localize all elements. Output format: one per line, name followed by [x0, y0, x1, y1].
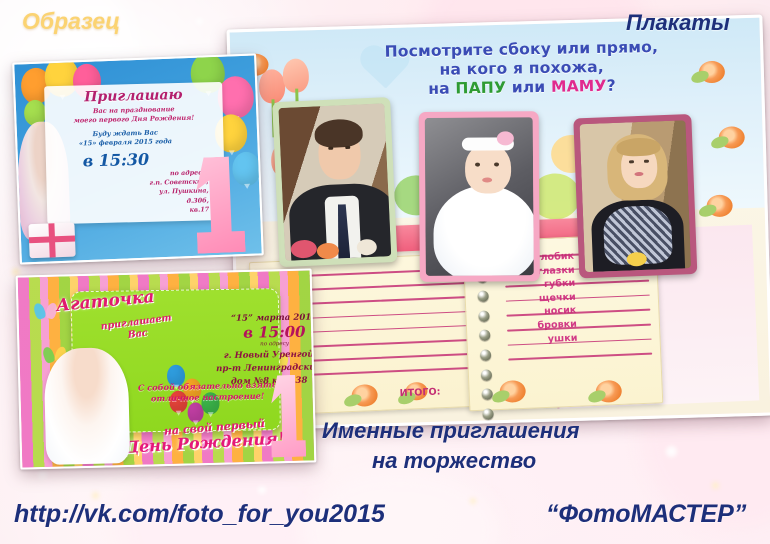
screenshot-canvas: Посмотрите сбоку или прямо, на кого я по…: [0, 0, 770, 544]
rose-icon: [595, 380, 622, 403]
photo-mom-image: [580, 120, 692, 272]
photo-dad[interactable]: [272, 97, 397, 267]
vk-url-text[interactable]: http://vk.com/foto_for_you2015: [14, 500, 385, 529]
headline-suffix: ?: [606, 77, 616, 95]
headline-mid: или: [506, 78, 551, 97]
total-label: ИТОГО:: [399, 386, 440, 399]
invite-date: Буду ждать Вас «15» февраля 2015 года: [49, 127, 201, 149]
named-invites-line-1: Именные приглашения: [322, 418, 580, 444]
photo-dad-image: [278, 103, 391, 261]
photo-baby-image: [425, 117, 534, 276]
headline-papa: ПАПУ: [455, 79, 506, 98]
posters-label: Плакаты: [626, 10, 730, 36]
invitation-text-panel: Приглашаю Вас на празднование моего перв…: [44, 82, 225, 224]
gift-box-icon: [28, 222, 75, 258]
baby-photo-green-card: [43, 347, 130, 465]
rose-icon: [499, 380, 526, 403]
invite-time: в 15:30: [52, 149, 180, 171]
brand-name: “ФотоМАСТЕР”: [546, 500, 746, 529]
tulip-icon: [282, 58, 309, 93]
headline-mama: МАМУ: [551, 77, 607, 96]
invitation-card-green[interactable]: “15” марта 2015 в 15:00 по адресу г. Нов…: [16, 268, 317, 469]
balloon-icon: [232, 151, 261, 186]
photo-mom[interactable]: [573, 114, 697, 278]
poster-headline: Посмотрите сбоку или прямо, на кого я по…: [316, 37, 727, 101]
rose-icon: [706, 195, 733, 218]
named-invites-line-2: на торжество: [372, 448, 536, 474]
tulip-icon: [259, 69, 286, 104]
headline-prefix: на: [428, 79, 455, 97]
invite-title: Приглашаю: [50, 86, 216, 106]
green-time: в 15:00: [200, 322, 316, 342]
photo-baby[interactable]: [419, 111, 540, 282]
invitation-card-blue[interactable]: Приглашаю Вас на празднование моего перв…: [12, 53, 264, 264]
invite-subtitle: Вас на празднование моего первого Дня Ро…: [49, 104, 219, 126]
sample-watermark: Образец: [22, 8, 120, 35]
invite-address: по адресу: г.п. Советский, ул. Пушкина, …: [68, 168, 209, 217]
rose-icon: [351, 384, 378, 407]
